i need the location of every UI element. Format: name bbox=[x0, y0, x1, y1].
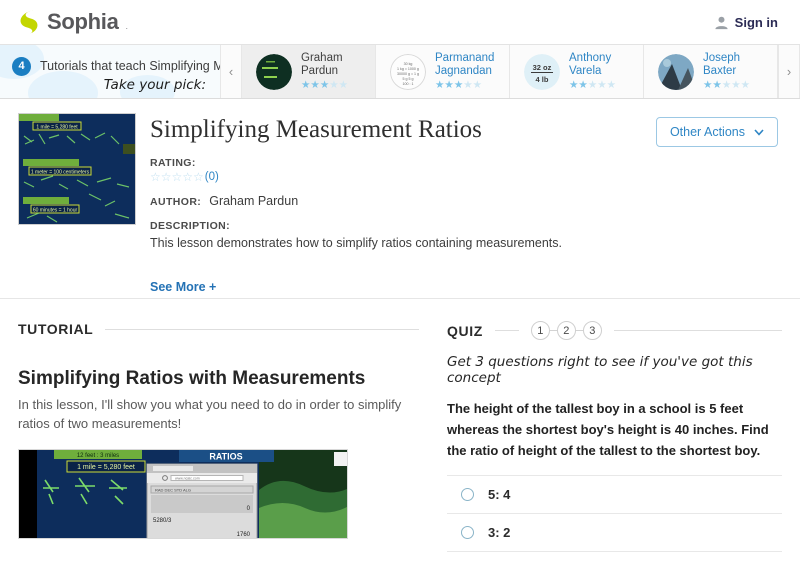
svg-text:100 : 1: 100 : 1 bbox=[403, 82, 414, 86]
quiz-question: The height of the tallest boy in a schoo… bbox=[447, 398, 782, 461]
svg-text:30000 g = 1 g: 30000 g = 1 g bbox=[397, 72, 419, 76]
svg-text:1 meter = 100 centimeters: 1 meter = 100 centimeters bbox=[31, 170, 90, 176]
tutorial-heading: Simplifying Ratios with Measurements bbox=[18, 367, 419, 391]
tutors-carousel: 4 Tutorials that teach Simplifying M Tak… bbox=[0, 44, 800, 99]
divider bbox=[614, 330, 782, 331]
avatar bbox=[658, 54, 694, 90]
site-header: Sophia . Sign in bbox=[0, 0, 800, 44]
rating-row: ☆☆☆☆☆ (0) bbox=[150, 170, 642, 184]
radio-button-icon[interactable] bbox=[461, 526, 474, 539]
svg-text:30 kg: 30 kg bbox=[404, 62, 413, 66]
chevron-down-icon bbox=[754, 129, 764, 136]
radio-button-icon[interactable] bbox=[461, 488, 474, 501]
lower-panels: TUTORIAL Simplifying Ratios with Measure… bbox=[0, 299, 800, 552]
video-calc-value: 5280/3 bbox=[153, 518, 172, 524]
quiz-answers: 5: 4 3: 2 bbox=[447, 475, 782, 552]
description-value: This lesson demonstrates how to simplify… bbox=[150, 235, 642, 252]
tutor-card-graham-pardun[interactable]: Graham Pardun ★★★★★ bbox=[242, 45, 376, 98]
video-caption-mid: 1 mile = 5,280 feet bbox=[77, 464, 135, 471]
step-connector bbox=[576, 330, 583, 331]
svg-text:1760: 1760 bbox=[237, 532, 251, 538]
tutorial-video-player[interactable]: RATIOS 12 feet : 3 miles 1 mile = 5,280 … bbox=[18, 449, 348, 539]
tutor-name: Anthony Varela bbox=[569, 52, 635, 78]
tutor-name: Joseph Baxter bbox=[703, 52, 769, 78]
divider bbox=[495, 330, 519, 331]
person-icon bbox=[714, 15, 729, 30]
brand-trademark: . bbox=[126, 21, 129, 35]
tutor-rating-stars: ★★★★★ bbox=[569, 80, 635, 91]
tutorial-subtext: In this lesson, I'll show you what you n… bbox=[18, 395, 419, 433]
svg-text:1 kg = 1000 g: 1 kg = 1000 g bbox=[397, 67, 419, 71]
carousel-intro: 4 Tutorials that teach Simplifying M Tak… bbox=[0, 45, 220, 98]
quiz-panel: QUIZ 1 2 3 Get 3 questions right to see … bbox=[447, 321, 782, 552]
sign-in-button[interactable]: Sign in bbox=[714, 15, 778, 30]
other-actions-button[interactable]: Other Actions bbox=[656, 117, 778, 147]
avatar bbox=[256, 54, 292, 90]
svg-text:www.ncalc.com: www.ncalc.com bbox=[175, 477, 200, 481]
quiz-step-1[interactable]: 1 bbox=[531, 321, 550, 340]
tutor-card-joseph-baxter[interactable]: Joseph Baxter ★★★★★ bbox=[644, 45, 778, 98]
quiz-answer-option[interactable]: 3: 2 bbox=[447, 514, 782, 552]
tutorial-section-title: TUTORIAL bbox=[18, 321, 93, 337]
tutor-card-parmanand-jagnandan[interactable]: 30 kg 1 kg = 1000 g 30000 g = 1 g 5 g 5 … bbox=[376, 45, 510, 98]
quiz-steps: 1 2 3 bbox=[531, 321, 602, 340]
rating-stars-empty[interactable]: ☆☆☆☆☆ bbox=[150, 170, 204, 184]
svg-text:5 g 5 g: 5 g 5 g bbox=[403, 77, 414, 81]
tutor-card-anthony-varela[interactable]: 32 oz 4 lb Anthony Varela ★★★★★ bbox=[510, 45, 644, 98]
video-overlay-text: RATIOS bbox=[209, 452, 242, 462]
avatar-bottom-text: 4 lb bbox=[536, 75, 549, 84]
quiz-section-head: QUIZ 1 2 3 bbox=[447, 321, 782, 340]
quiz-answer-label: 5: 4 bbox=[488, 487, 510, 502]
take-your-pick-label: Take your pick: bbox=[12, 77, 210, 93]
lesson-detail-body: Simplifying Measurement Ratios RATING: ☆… bbox=[150, 113, 642, 298]
quiz-answer-option[interactable]: 5: 4 bbox=[447, 476, 782, 514]
tutor-rating-stars: ★★★★★ bbox=[301, 80, 367, 91]
rating-label: RATING: bbox=[150, 157, 642, 169]
tutorial-section-head: TUTORIAL bbox=[18, 321, 419, 337]
brand-name: Sophia bbox=[47, 9, 119, 35]
rating-count: (0) bbox=[205, 171, 219, 183]
svg-text:60 minutes = 1 hour: 60 minutes = 1 hour bbox=[33, 208, 78, 214]
tutor-rating-stars: ★★★★★ bbox=[703, 80, 769, 91]
tutor-rating-stars: ★★★★★ bbox=[435, 80, 501, 91]
avatar-top-text: 32 oz bbox=[533, 63, 552, 72]
tutor-name: Parmanand Jagnandan bbox=[435, 52, 501, 78]
carousel-prev-button[interactable]: ‹ bbox=[220, 45, 242, 98]
avatar: 32 oz 4 lb bbox=[524, 54, 560, 90]
tutorial-panel: TUTORIAL Simplifying Ratios with Measure… bbox=[18, 321, 419, 552]
quiz-step-2[interactable]: 2 bbox=[557, 321, 576, 340]
quiz-section-title: QUIZ bbox=[447, 323, 483, 339]
tutor-name: Graham Pardun bbox=[301, 52, 367, 78]
carousel-intro-text: Tutorials that teach Simplifying M bbox=[40, 59, 220, 73]
quiz-step-3[interactable]: 3 bbox=[583, 321, 602, 340]
avatar: 30 kg 1 kg = 1000 g 30000 g = 1 g 5 g 5 … bbox=[390, 54, 426, 90]
brand-logo[interactable]: Sophia . bbox=[18, 9, 128, 35]
author-row: AUTHOR: Graham Pardun bbox=[150, 194, 642, 208]
quiz-answer-label: 3: 2 bbox=[488, 525, 510, 540]
sophia-logo-icon bbox=[18, 9, 40, 35]
author-value: Graham Pardun bbox=[209, 194, 298, 208]
lesson-detail: 1 mile = 5,280 feet 1 meter = 100 centim… bbox=[0, 99, 800, 299]
description-label: DESCRIPTION: bbox=[150, 220, 642, 232]
step-connector bbox=[550, 330, 557, 331]
svg-text:RAD DEC STD ALG: RAD DEC STD ALG bbox=[155, 487, 191, 492]
carousel-next-button[interactable]: › bbox=[778, 45, 800, 98]
page-title: Simplifying Measurement Ratios bbox=[150, 115, 642, 145]
sign-in-label: Sign in bbox=[735, 15, 778, 30]
quiz-tagline: Get 3 questions right to see if you've g… bbox=[447, 354, 782, 386]
other-actions-label: Other Actions bbox=[670, 125, 745, 139]
author-label: AUTHOR: bbox=[150, 196, 201, 208]
video-caption-top: 12 feet : 3 miles bbox=[77, 453, 119, 459]
divider bbox=[105, 329, 419, 330]
tutorial-count-badge: 4 bbox=[12, 57, 31, 76]
lesson-thumbnail[interactable]: 1 mile = 5,280 feet 1 meter = 100 centim… bbox=[18, 113, 136, 225]
svg-text:1 mile = 5,280 feet: 1 mile = 5,280 feet bbox=[36, 125, 78, 131]
see-more-button[interactable]: See More + bbox=[150, 280, 642, 294]
carousel-track: Graham Pardun ★★★★★ 30 kg 1 kg = 1000 g … bbox=[242, 45, 778, 98]
